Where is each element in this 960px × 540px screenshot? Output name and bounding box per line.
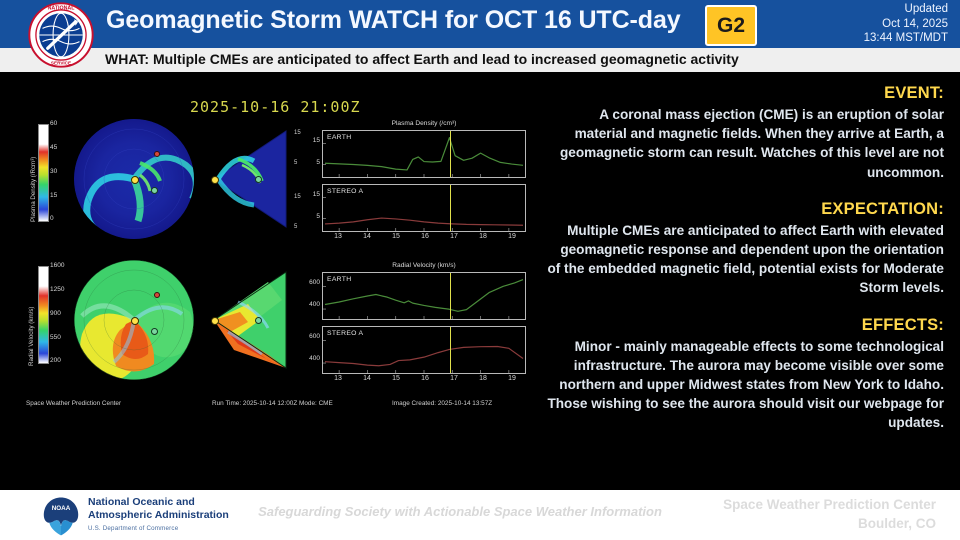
ytick-600: 600: [309, 279, 320, 286]
ecliptic-plane-velocity-plot: [74, 260, 194, 380]
storm-scale-badge: G2: [705, 5, 757, 46]
ytick-400: 400: [309, 355, 320, 362]
sun-marker: [131, 176, 139, 184]
xtick-19: 19: [508, 375, 516, 382]
svg-text:NOAA: NOAA: [52, 505, 71, 512]
wedge-axis-tick-5s-top: 5: [294, 224, 297, 230]
xtick-17: 17: [450, 233, 458, 240]
xtick-18: 18: [479, 375, 487, 382]
figure-footer: Space Weather Prediction Center Run Time…: [12, 400, 524, 412]
center-line-2: Boulder, CO: [723, 514, 936, 533]
updated-block: Updated Oct 14, 2025 13:44 MST/MDT: [864, 2, 948, 46]
xtick-16: 16: [421, 375, 429, 382]
xtick-13: 13: [334, 233, 342, 240]
ecliptic-plane-density-plot: [74, 119, 194, 239]
plasma-density-chart-title: Plasma Density (/cm³): [323, 120, 525, 127]
plasma-density-ticks: 60 45 30 15 0: [50, 120, 72, 220]
ytick-5: 5: [316, 159, 320, 166]
updated-time: 13:44 MST/MDT: [864, 31, 948, 46]
footer-tagline: Safeguarding Society with Actionable Spa…: [240, 504, 680, 519]
forecast-time-marker: [450, 185, 452, 231]
figure-timestamp: 2025-10-16 21:00Z: [190, 98, 361, 116]
noaa-logo: NOAA: [40, 495, 82, 537]
ytick-15: 15: [313, 191, 320, 198]
agency-line-2: Atmospheric Administration: [88, 509, 229, 522]
expectation-body: Multiple CMEs are anticipated to affect …: [544, 221, 944, 298]
figure-footer-created: Image Created: 2025-10-14 13:57Z: [392, 400, 492, 407]
wedge-axis-tick-15n-top: 15: [294, 130, 301, 136]
xtick-15: 15: [392, 375, 400, 382]
what-bar: WHAT: Multiple CMEs are anticipated to a…: [0, 48, 960, 72]
ytick-600: 600: [309, 333, 320, 340]
xtick-18: 18: [479, 233, 487, 240]
xtick-14: 14: [363, 233, 371, 240]
xtick-13: 13: [334, 375, 342, 382]
radial-velocity-chart-title: Radial Velocity (km/s): [323, 262, 525, 269]
radial-velocity-ticks: 1600 1250 900 550 200: [50, 262, 72, 362]
plasma-density-stereo-panel: STEREO A 15 5 13 14 15 16 17 18 19: [322, 184, 526, 232]
forecast-time-marker: [450, 273, 452, 319]
swpc-alert-page: Geomagnetic Storm WATCH for OCT 16 UTC-d…: [0, 0, 960, 540]
page-footer: NOAA National Oceanic and Atmospheric Ad…: [0, 490, 960, 540]
meridional-plane-density-plot: [208, 119, 292, 239]
xtick-16: 16: [421, 233, 429, 240]
xtick-19: 19: [508, 233, 516, 240]
wedge-axis-tick-5n-top: 5: [294, 160, 297, 166]
forecast-time-marker: [450, 131, 452, 177]
noaa-agency-text: National Oceanic and Atmospheric Adminis…: [88, 496, 229, 536]
event-body: A coronal mass ejection (CME) is an erup…: [544, 105, 944, 182]
radial-velocity-earth-line: [323, 273, 525, 319]
forecast-time-marker: [450, 327, 452, 373]
plasma-density-colorbar-label: Plasma Density (/Rcm³): [30, 126, 37, 222]
radial-velocity-stereo-panel: STEREO A 600 400 13 14 15 16 17 18 19: [322, 326, 526, 374]
ytick-15: 15: [313, 137, 320, 144]
panel-label-earth: EARTH: [327, 134, 351, 141]
radial-velocity-color-scale: [38, 266, 49, 364]
sun-marker: [211, 176, 219, 184]
svg-text:NATIONAL: NATIONAL: [48, 5, 76, 11]
page-title: Geomagnetic Storm WATCH for OCT 16 UTC-d…: [106, 6, 681, 35]
center-line-1: Space Weather Prediction Center: [723, 495, 936, 514]
stereo-a-marker: [154, 151, 160, 157]
earth-marker: [255, 176, 262, 183]
sun-marker: [211, 317, 219, 325]
meridional-plane-velocity-plot: [208, 260, 292, 380]
svg-text:SERVICE: SERVICE: [51, 61, 71, 66]
radial-velocity-earth-panel: Radial Velocity (km/s) EARTH 600 400: [322, 272, 526, 320]
agency-line-1: National Oceanic and: [88, 496, 229, 509]
what-text: WHAT: Multiple CMEs are anticipated to a…: [105, 51, 739, 67]
updated-label: Updated: [864, 2, 948, 17]
panel-label-stereo-a: STEREO A: [327, 330, 363, 337]
main-content: 2025-10-16 21:00Z Plasma Density (/Rcm³)…: [0, 72, 960, 490]
ytick-400: 400: [309, 301, 320, 308]
xtick-15: 15: [392, 233, 400, 240]
updated-date: Oct 14, 2025: [864, 17, 948, 32]
footer-center-block: Space Weather Prediction Center Boulder,…: [723, 495, 936, 533]
ytick-5: 5: [316, 213, 320, 220]
event-heading: EVENT:: [544, 84, 944, 103]
earth-marker: [151, 187, 158, 194]
alert-text-column: EVENT: A coronal mass ejection (CME) is …: [544, 84, 944, 433]
panel-label-stereo-a: STEREO A: [327, 188, 363, 195]
sun-marker: [131, 317, 139, 325]
xtick-14: 14: [363, 375, 371, 382]
wedge-axis-tick-15s-top: 15: [294, 194, 301, 200]
enlil-model-figure: 2025-10-16 21:00Z Plasma Density (/Rcm³)…: [12, 86, 524, 476]
stereo-a-marker: [154, 292, 160, 298]
xtick-17: 17: [450, 375, 458, 382]
figure-footer-center: Space Weather Prediction Center: [26, 400, 121, 407]
plasma-density-earth-line: [323, 131, 525, 177]
earth-marker: [151, 328, 158, 335]
plasma-density-color-scale: [38, 124, 49, 222]
page-header: Geomagnetic Storm WATCH for OCT 16 UTC-d…: [0, 0, 960, 48]
agency-sub: U.S. Department of Commerce: [88, 521, 229, 536]
earth-marker: [255, 317, 262, 324]
radial-velocity-colorbar-label: Radial Velocity (km/s): [28, 270, 35, 366]
effects-body: Minor - mainly manageable effects to som…: [544, 337, 944, 433]
plasma-density-earth-panel: Plasma Density (/cm³) EARTH 15 5: [322, 130, 526, 178]
effects-heading: EFFECTS:: [544, 316, 944, 335]
panel-label-earth: EARTH: [327, 276, 351, 283]
expectation-heading: EXPECTATION:: [544, 200, 944, 219]
figure-footer-runtime: Run Time: 2025-10-14 12:00Z Mode: CME: [212, 400, 333, 407]
national-weather-service-logo: NATIONAL SERVICE: [28, 2, 94, 68]
